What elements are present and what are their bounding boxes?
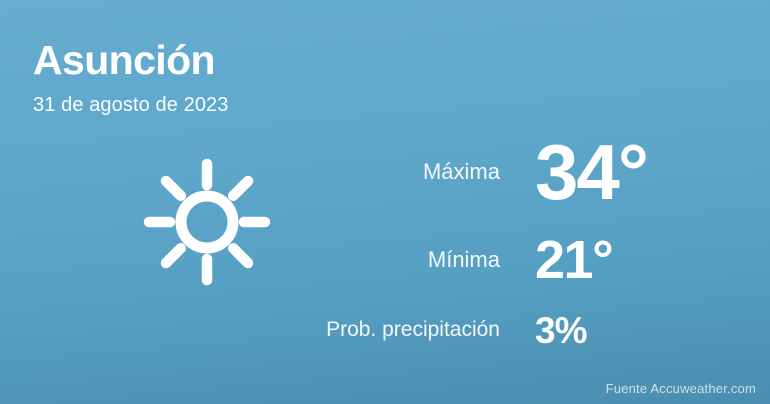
sun-disc-ring [181,196,233,248]
sun-icon [137,152,277,292]
header: Asunción 31 de agosto de 2023 [33,40,453,115]
sun-rays [149,164,265,280]
maxima-label: Máxima [300,159,535,185]
minima-label: Mínima [300,247,535,273]
precipitation-label: Prob. precipitación [300,318,535,342]
source-attribution: Fuente Accuweather.com [606,381,756,396]
forecast-date: 31 de agosto de 2023 [33,95,453,115]
reading-row-precipitation: Prob. precipitación 3% [300,300,740,360]
readings-list: Máxima 34° Mínima 21° Prob. precipitació… [300,124,740,360]
reading-row-minima: Mínima 21° [300,220,740,300]
reading-row-maxima: Máxima 34° [300,124,740,220]
weather-widget: Asunción 31 de agosto de 2023 Máxima 34° [0,0,770,404]
city-name: Asunción [33,40,453,81]
precipitation-value: 3% [535,312,740,349]
weather-icon [137,152,277,292]
maxima-value: 34° [535,133,740,211]
minima-value: 21° [535,233,740,287]
